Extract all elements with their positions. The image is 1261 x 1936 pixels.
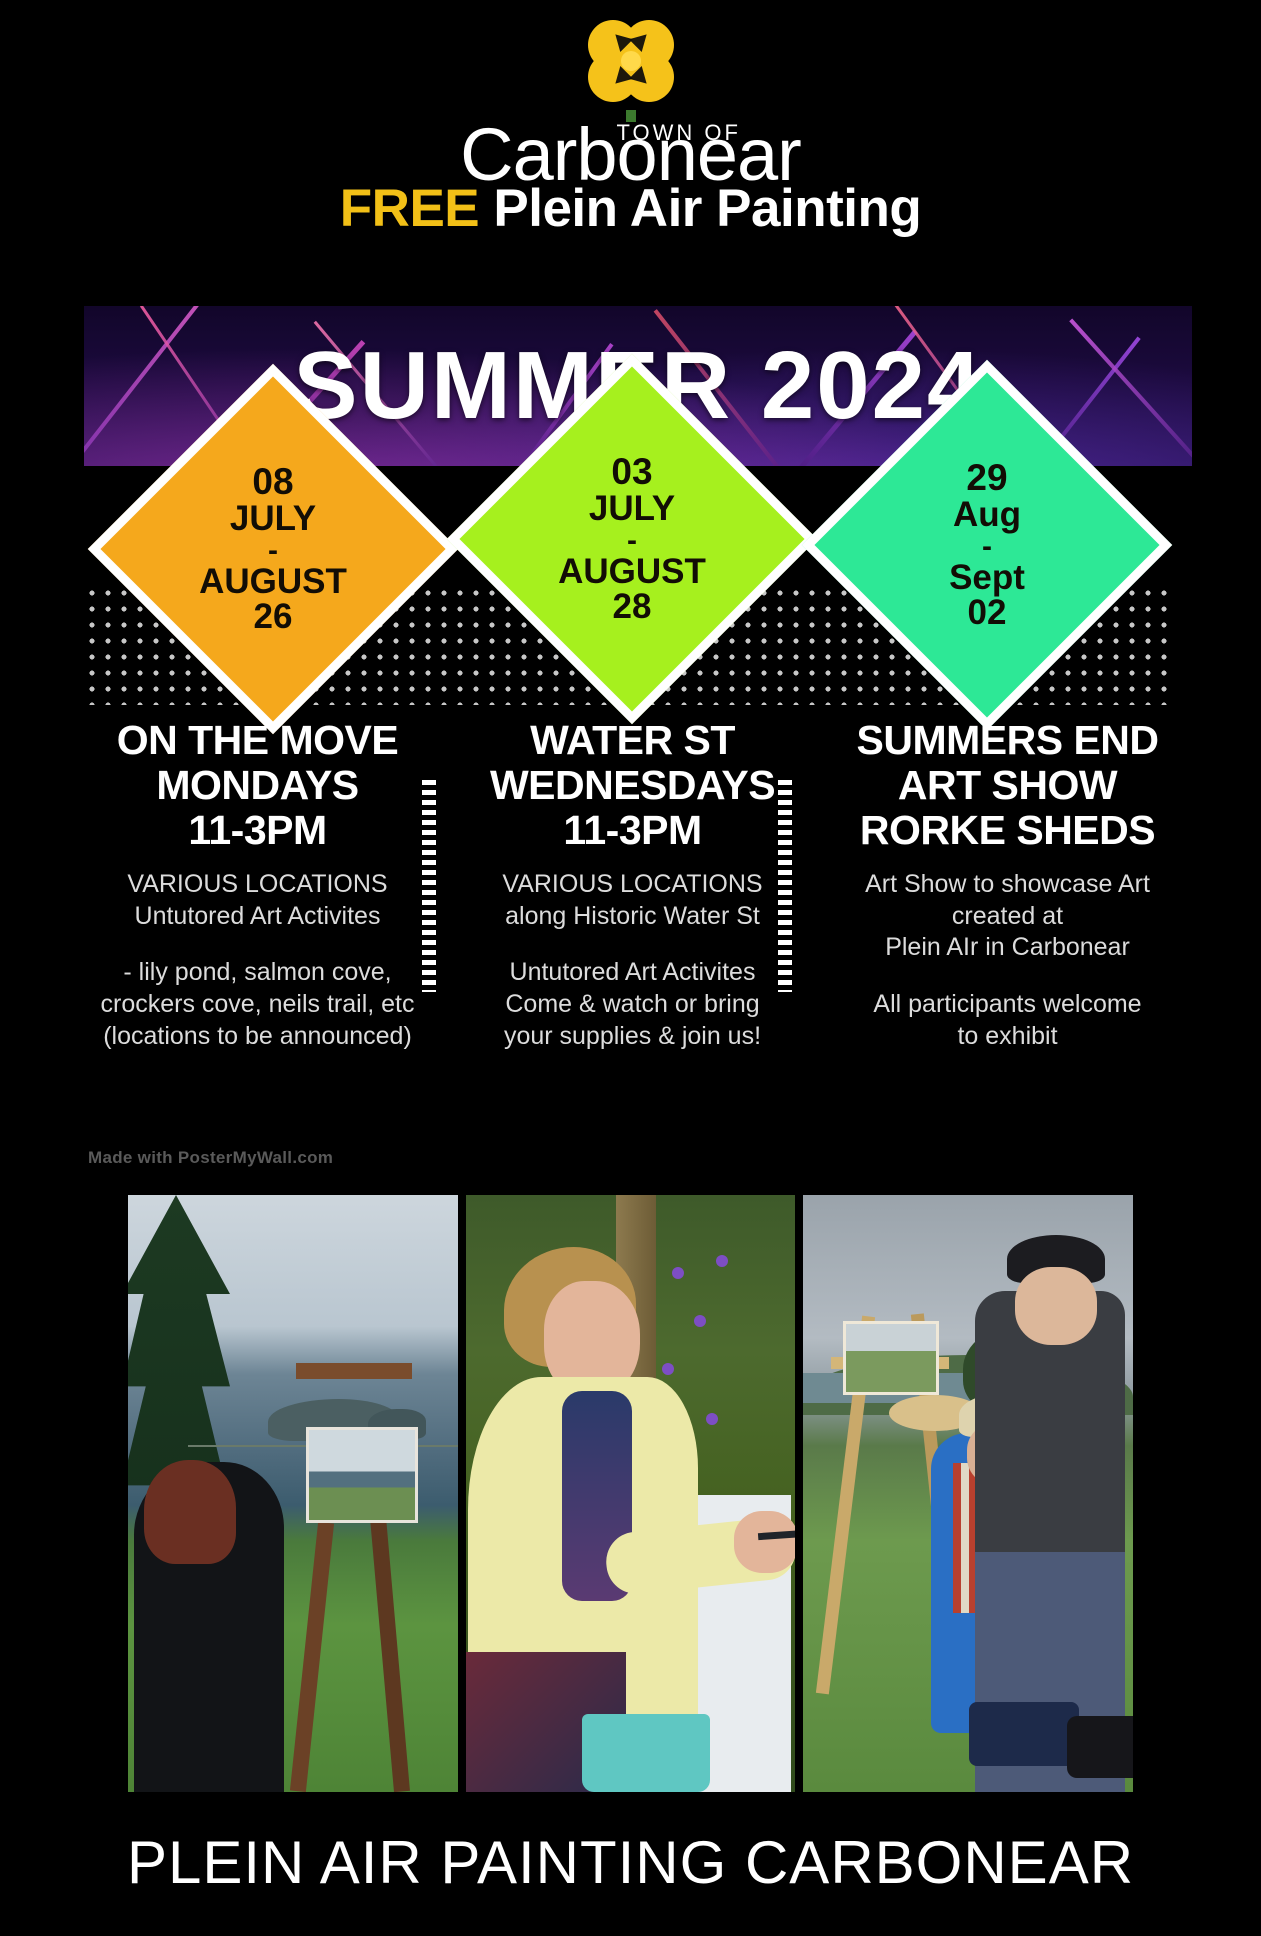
diamond-3-day: 29 (966, 459, 1007, 497)
column-divider-1 (422, 780, 436, 992)
column-1-sub-line-2: Untutored Art Activites (76, 901, 439, 933)
diamond-3-month: Aug (953, 497, 1021, 533)
column-2-sub-line-1: VARIOUS LOCATIONS (451, 869, 814, 901)
column-1-body: - lily pond, salmon cove, crockers cove,… (76, 956, 439, 1052)
date-diamond-row: 08 JULY - AUGUST 26 03 JULY - AUGUST 28 … (84, 406, 1176, 706)
diamond-2-end-month: AUGUST (558, 554, 706, 590)
diamond-1-end-month: AUGUST (199, 564, 347, 600)
column-3-head-line-3: RORKE SHEDS (826, 808, 1189, 853)
event-column-summers-end: SUMMERS END ART SHOW RORKE SHEDS Art Sho… (820, 718, 1195, 968)
diamond-3-end-month: Sept (949, 560, 1025, 596)
column-2-body: Untutored Art Activites Come & watch or … (451, 956, 814, 1052)
column-1-body-line-3: (locations to be announced) (76, 1020, 439, 1052)
town-of-label: TOWN OF (616, 120, 740, 146)
column-2-heading: WATER ST WEDNESDAYS 11-3PM (451, 718, 814, 853)
column-2-head-line-2: WEDNESDAYS (451, 763, 814, 808)
event-columns: ON THE MOVE MONDAYS 11-3PM VARIOUS LOCAT… (70, 718, 1195, 968)
town-logo: TOWN OF Carbonear (0, 18, 1261, 192)
diamond-1-month: JULY (230, 501, 316, 537)
poster-root: TOWN OF Carbonear FREE Plein Air Paintin… (0, 0, 1261, 1936)
diamond-3-end-day: 02 (968, 595, 1007, 631)
footer-title: PLEIN AIR PAINTING CARBONEAR (0, 1828, 1261, 1897)
diamond-1-end-day: 26 (254, 599, 293, 635)
column-1-subtext: VARIOUS LOCATIONS Untutored Art Activite… (76, 869, 439, 932)
column-3-heading: SUMMERS END ART SHOW RORKE SHEDS (826, 718, 1189, 853)
date-diamond-3: 29 Aug - Sept 02 (802, 360, 1173, 731)
column-2-body-line-2: Come & watch or bring (451, 988, 814, 1020)
column-2-head-line-3: 11-3PM (451, 808, 814, 853)
diamond-2-end-day: 28 (613, 589, 652, 625)
photo-woman-painting-in-garden (466, 1195, 796, 1792)
column-1-body-line-1: - lily pond, salmon cove, (76, 956, 439, 988)
column-2-sub-line-2: along Historic Water St (451, 901, 814, 933)
column-2-body-line-1: Untutored Art Activites (451, 956, 814, 988)
photo-two-men-at-easel (803, 1195, 1133, 1792)
flower-icon (588, 18, 674, 114)
column-3-subtext: Art Show to showcase Art created at Plei… (826, 869, 1189, 964)
column-2-head-line-1: WATER ST (451, 718, 814, 763)
column-1-head-line-2: MONDAYS (76, 763, 439, 808)
column-3-sub-line-1: Art Show to showcase Art (826, 869, 1189, 901)
column-3-body-line-1: All participants welcome (826, 988, 1189, 1020)
column-2-body-line-3: your supplies & join us! (451, 1020, 814, 1052)
diamond-2-dash: - (627, 527, 637, 554)
free-accent-label: FREE (340, 179, 479, 238)
diamond-2-month: JULY (589, 491, 675, 527)
column-3-head-line-2: ART SHOW (826, 763, 1189, 808)
diamond-1-day: 08 (252, 463, 293, 501)
postermywall-watermark: Made with PosterMyWall.com (88, 1148, 333, 1168)
column-2-subtext: VARIOUS LOCATIONS along Historic Water S… (451, 869, 814, 932)
date-diamond-2: 03 JULY - AUGUST 28 (447, 354, 818, 725)
column-3-head-line-1: SUMMERS END (826, 718, 1189, 763)
column-1-head-line-3: 11-3PM (76, 808, 439, 853)
event-column-water-st: WATER ST WEDNESDAYS 11-3PM VARIOUS LOCAT… (445, 718, 820, 968)
column-divider-2 (778, 780, 792, 992)
column-3-body-line-2: to exhibit (826, 1020, 1189, 1052)
column-1-sub-line-1: VARIOUS LOCATIONS (76, 869, 439, 901)
photo-strip (128, 1195, 1133, 1792)
diamond-3-dash: - (982, 533, 992, 560)
page-title: FREE Plein Air Painting (0, 178, 1261, 239)
column-3-sub-line-3: Plein AIr in Carbonear (826, 932, 1189, 964)
diamond-1-dash: - (268, 537, 278, 564)
column-1-head-line-1: ON THE MOVE (76, 718, 439, 763)
column-3-sub-line-2: created at (826, 901, 1189, 933)
column-1-heading: ON THE MOVE MONDAYS 11-3PM (76, 718, 439, 853)
column-3-body: All participants welcome to exhibit (826, 988, 1189, 1052)
date-diamond-1: 08 JULY - AUGUST 26 (88, 364, 459, 735)
photo-woman-painting-by-the-sea (128, 1195, 458, 1792)
column-1-body-line-2: crockers cove, neils trail, etc (76, 988, 439, 1020)
plein-air-painting-label: Plein Air Painting (479, 179, 921, 238)
diamond-2-day: 03 (611, 453, 652, 491)
event-column-on-the-move: ON THE MOVE MONDAYS 11-3PM VARIOUS LOCAT… (70, 718, 445, 968)
